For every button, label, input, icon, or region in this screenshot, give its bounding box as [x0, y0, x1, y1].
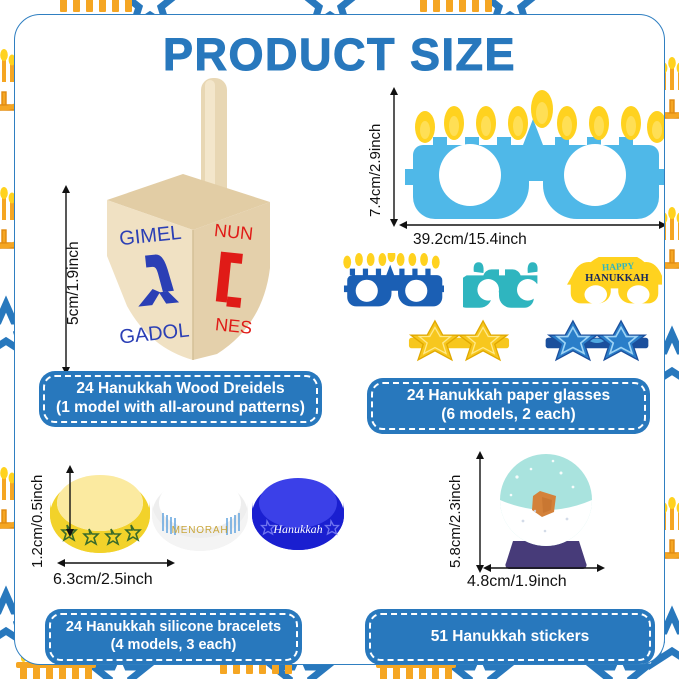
svg-text:NUN: NUN — [213, 220, 254, 244]
bracelets-illustration: MENORAH Hanukkah — [45, 463, 345, 568]
dreidel-height-label: 5cm/1.9inch — [65, 241, 83, 325]
bracelet-blue: Hanukkah — [252, 478, 344, 550]
caption-glasses-line2: (6 models, 2 each) — [441, 406, 575, 423]
sticker-height-label: 5.8cm/2.3inch — [447, 475, 464, 568]
caption-glasses-line1: 24 Hanukkah paper glasses — [407, 387, 610, 404]
svg-text:NES: NES — [214, 314, 253, 338]
caption-bracelets: 24 Hanukkah silicone bracelets (4 models… — [45, 609, 302, 665]
glasses-width-dimension-line — [399, 218, 665, 232]
caption-stickers: 51 Hanukkah stickers — [365, 609, 655, 665]
bracelet-width-label: 6.3cm/2.5inch — [53, 571, 153, 589]
sticker-height-dimension-line — [473, 451, 487, 573]
glasses-model-menorah-blue — [339, 253, 444, 309]
caption-dreidels-line2: (1 model with all-around patterns) — [56, 399, 305, 416]
bracelet-height-label: 1.2cm/0.5inch — [29, 475, 46, 568]
glasses-width-label: 39.2cm/15.4inch — [413, 231, 527, 249]
bracelet-white: MENORAH — [152, 477, 248, 551]
glasses-model-star-blue — [539, 317, 655, 369]
snow-globe-sticker — [483, 447, 609, 575]
caption-stickers-line1: 51 Hanukkah stickers — [431, 628, 590, 645]
glasses-height-dimension-line — [387, 87, 401, 227]
glasses-model-happy-hanukkah-yellow: HAPPY HANUKKAH — [567, 257, 665, 311]
svg-text:HANUKKAH: HANUKKAH — [585, 273, 649, 284]
glasses-height-label: 7.4cm/2.9inch — [367, 124, 384, 217]
caption-bracelets-line2: (4 models, 3 each) — [111, 637, 237, 653]
menorah-glasses-hero — [395, 83, 665, 223]
dreidel-illustration: GIMEL GADOL NUN NES — [65, 70, 315, 370]
glasses-model-star-yellow — [403, 317, 515, 369]
sticker-width-label: 4.8cm/1.9inch — [467, 573, 567, 591]
caption-glasses: 24 Hanukkah paper glasses (6 models, 2 e… — [367, 378, 650, 434]
svg-text:Hanukkah: Hanukkah — [272, 522, 322, 536]
svg-text:MENORAH: MENORAH — [172, 525, 229, 536]
caption-dreidels: 24 Hanukkah Wood Dreidels (1 model with … — [39, 371, 322, 427]
caption-bracelets-line1: 24 Hanukkah silicone bracelets — [66, 619, 281, 635]
svg-text:HAPPY: HAPPY — [602, 262, 635, 274]
caption-dreidels-line1: 24 Hanukkah Wood Dreidels — [76, 380, 284, 397]
glasses-model-round-teal — [463, 261, 553, 309]
bracelet-height-dimension-line — [63, 465, 77, 537]
content-panel: PRODUCT SIZE GIMEL GADOL NUN NES — [14, 14, 665, 665]
bracelet-width-dimension-line — [57, 556, 175, 570]
